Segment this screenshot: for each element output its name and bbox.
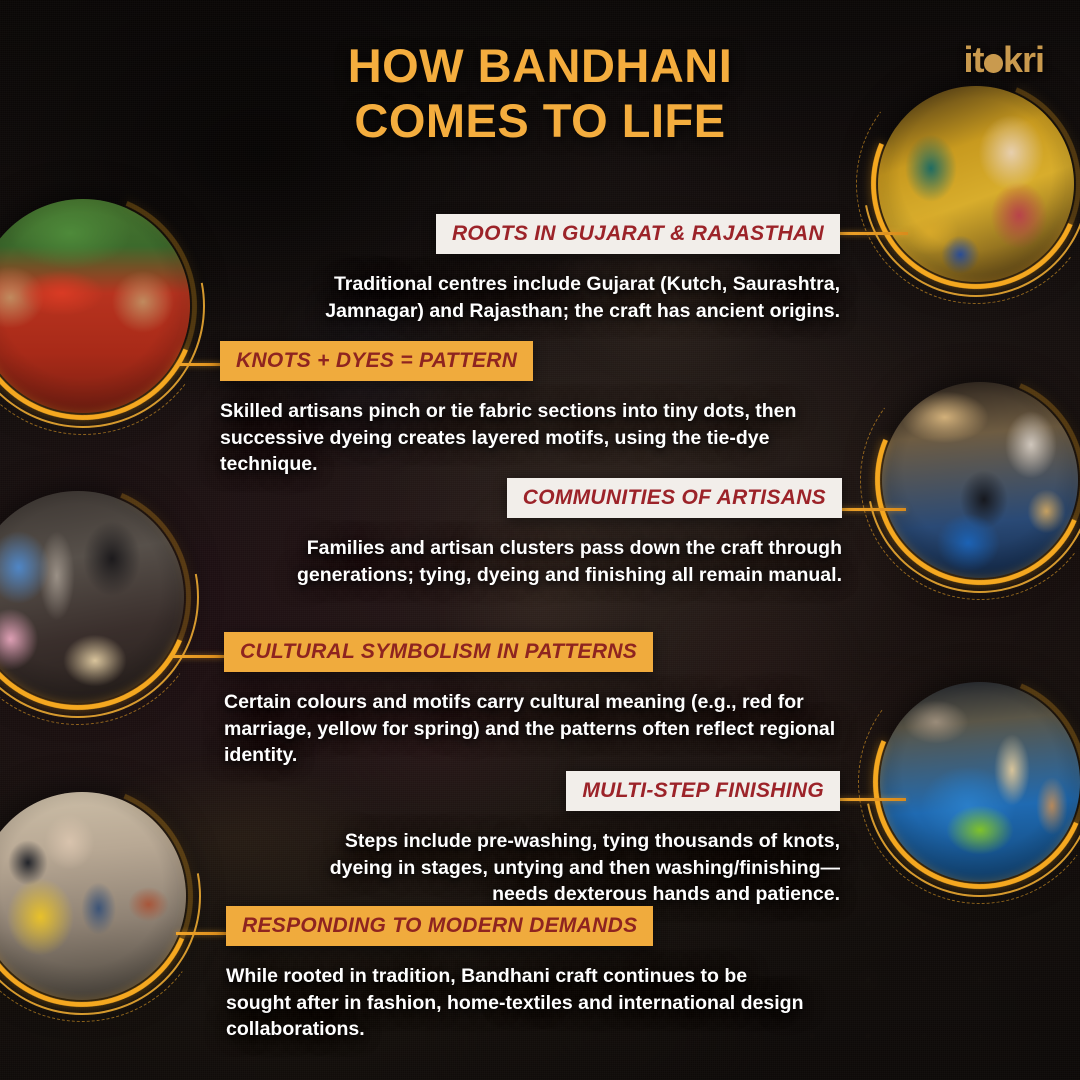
- connector-line-2: [176, 363, 224, 366]
- photo-women-tying-in-courtyard: [0, 491, 184, 703]
- section-block-6: RESPONDING TO MODERN DEMANDS While roote…: [226, 906, 816, 1043]
- brand-logo-text-part1: it: [964, 39, 984, 80]
- section-body-3: Families and artisan clusters pass down …: [240, 535, 842, 588]
- photo-dyer-lifting-yellow-cloth: [0, 792, 186, 1000]
- brand-logo-circle-icon: [984, 54, 1003, 73]
- section-label-2[interactable]: KNOTS + DYES = PATTERN: [220, 341, 533, 381]
- section-block-3: COMMUNITIES OF ARTISANS Families and art…: [240, 478, 842, 588]
- photo-hands-pinching-red-fabric: [0, 199, 190, 413]
- section-block-4: CULTURAL SYMBOLISM IN PATTERNS Certain c…: [224, 632, 838, 769]
- section-body-1: Traditional centres include Gujarat (Kut…: [268, 271, 840, 324]
- section-body-2: Skilled artisans pinch or tie fabric sec…: [220, 398, 840, 478]
- section-block-1: ROOTS IN GUJARAT & RAJASTHAN Traditional…: [268, 214, 840, 324]
- page-title: HOW BANDHANI COMES TO LIFE: [0, 38, 1080, 149]
- section-body-5: Steps include pre-washing, tying thousan…: [300, 828, 840, 908]
- section-label-3[interactable]: COMMUNITIES OF ARTISANS: [507, 478, 842, 518]
- connector-line-1: [836, 232, 908, 235]
- section-label-6[interactable]: RESPONDING TO MODERN DEMANDS: [226, 906, 653, 946]
- brand-logo-text-part2: kri: [1003, 39, 1044, 80]
- infographic-canvas: HOW BANDHANI COMES TO LIFE itkri: [0, 0, 1080, 1080]
- section-block-5: MULTI-STEP FINISHING Steps include pre-w…: [300, 771, 840, 908]
- section-label-4[interactable]: CULTURAL SYMBOLISM IN PATTERNS: [224, 632, 653, 672]
- photo-dyer-blue-tub-workshop: [882, 382, 1078, 578]
- connector-line-3: [840, 508, 906, 511]
- photo-blue-dye-vat-bundles: [880, 682, 1080, 882]
- connector-line-5: [838, 798, 906, 801]
- connector-line-6: [176, 932, 226, 935]
- section-label-5[interactable]: MULTI-STEP FINISHING: [566, 771, 840, 811]
- section-body-4: Certain colours and motifs carry cultura…: [224, 689, 838, 769]
- brand-logo-itokri[interactable]: itkri: [964, 42, 1044, 78]
- connector-line-4: [172, 655, 226, 658]
- page-title-line-1: HOW BANDHANI: [0, 38, 1080, 93]
- section-block-2: KNOTS + DYES = PATTERN Skilled artisans …: [220, 341, 840, 478]
- page-title-line-2: COMES TO LIFE: [0, 93, 1080, 148]
- section-body-6: While rooted in tradition, Bandhani craf…: [226, 963, 816, 1043]
- section-label-1[interactable]: ROOTS IN GUJARAT & RAJASTHAN: [436, 214, 840, 254]
